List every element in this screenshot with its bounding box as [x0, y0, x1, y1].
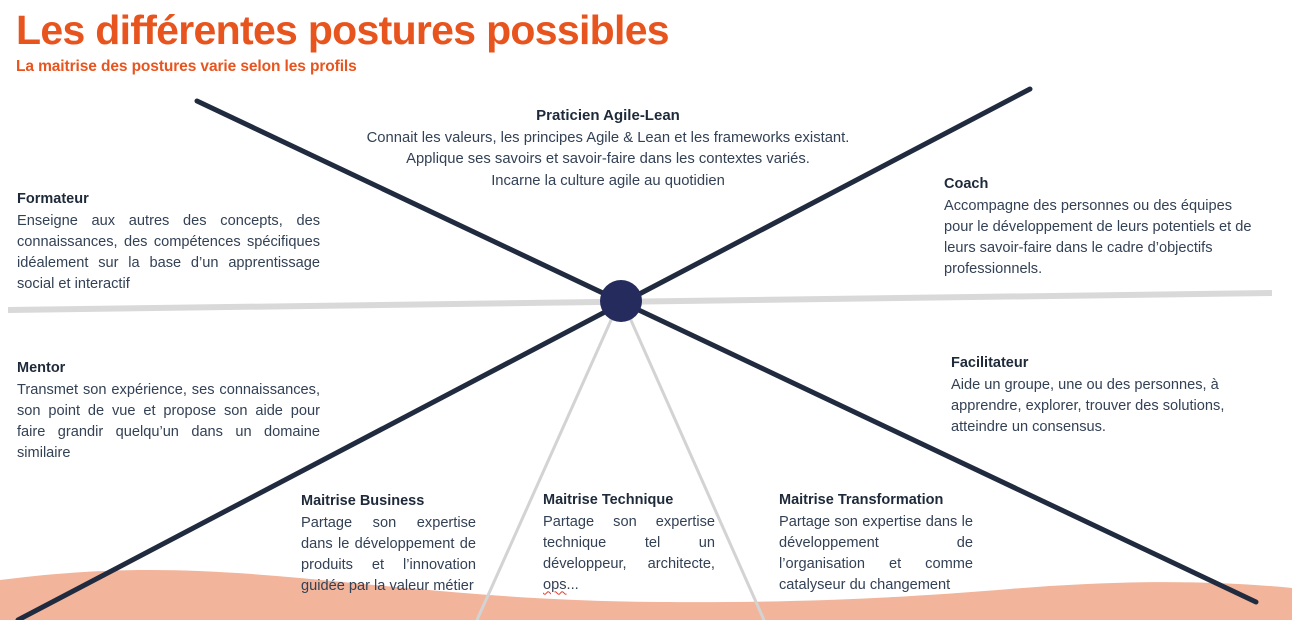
header: Les différentes postures possibles La ma… [16, 8, 669, 76]
block-maitrise-technique: Maitrise Technique Partage son expertise… [543, 490, 715, 595]
maitrise-transformation-title: Maitrise Transformation [779, 490, 973, 511]
block-coach: Coach Accompagne des personnes ou des éq… [944, 174, 1252, 279]
page-subtitle: La maitrise des postures varie selon les… [16, 58, 669, 76]
praticien-title: Praticien Agile-Lean [330, 105, 886, 127]
praticien-line-3: Incarne la culture agile au quotidien [330, 171, 886, 192]
praticien-line-2: Applique ses savoirs et savoir-faire dan… [330, 149, 886, 170]
facilitateur-title: Facilitateur [951, 353, 1256, 374]
maitrise-technique-body-part2: ... [567, 577, 579, 593]
slide-canvas: Les différentes postures possibles La ma… [0, 0, 1292, 620]
maitrise-business-title: Maitrise Business [301, 491, 476, 512]
page-title: Les différentes postures possibles [16, 8, 669, 54]
facilitateur-body: Aide un groupe, une ou des personnes, à … [951, 375, 1256, 438]
formateur-body: Enseigne aux autres des concepts, des co… [17, 211, 320, 294]
maitrise-technique-body-part1: Partage son expertise technique tel un d… [543, 514, 715, 572]
mentor-title: Mentor [17, 358, 320, 379]
mentor-body: Transmet son expérience, ses connaissanc… [17, 380, 320, 463]
block-praticien-agile-lean: Praticien Agile-Lean Connait les valeurs… [330, 105, 886, 192]
block-mentor: Mentor Transmet son expérience, ses conn… [17, 358, 320, 463]
block-facilitateur: Facilitateur Aide un groupe, une ou des … [951, 353, 1256, 438]
praticien-line-1: Connait les valeurs, les principes Agile… [330, 128, 886, 149]
block-formateur: Formateur Enseigne aux autres des concep… [17, 189, 320, 294]
maitrise-business-body: Partage son expertise dans le développem… [301, 513, 476, 596]
center-hub-circle[interactable] [600, 280, 642, 322]
coach-title: Coach [944, 174, 1252, 195]
maitrise-technique-body: Partage son expertise technique tel un d… [543, 512, 715, 595]
maitrise-technique-title: Maitrise Technique [543, 490, 715, 511]
block-maitrise-business: Maitrise Business Partage son expertise … [301, 491, 476, 596]
spellcheck-misspelled-word: ops [543, 577, 567, 593]
maitrise-transformation-body: Partage son expertise dans le développem… [779, 512, 973, 595]
block-maitrise-transformation: Maitrise Transformation Partage son expe… [779, 490, 973, 595]
formateur-title: Formateur [17, 189, 320, 210]
coach-body: Accompagne des personnes ou des équipes … [944, 196, 1252, 279]
